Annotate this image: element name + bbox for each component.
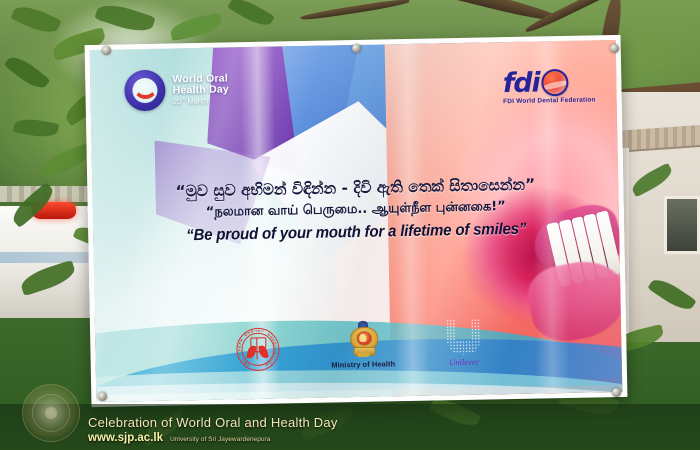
unilever-u-pattern (446, 318, 481, 355)
caption-credits: www.sjp.ac.lk University of Sri Jayeward… (88, 432, 270, 444)
smile-ring-inner (132, 78, 157, 103)
slogan-block: “මුව සුව අභිමන් විඳින්න - දිවි ඇති තෙක් … (113, 174, 598, 247)
slda-ring-char: N (265, 363, 270, 367)
fdi-logo: fdi FDI World Dental Federation (503, 69, 596, 106)
world-oral-health-day-banner: World Oral Health Day 20th March fdi FDI… (85, 35, 628, 407)
caption-title: Celebration of World Oral and Health Day (88, 415, 338, 430)
world-oral-health-day-logo: World Oral Health Day 20th March (124, 69, 229, 112)
fdi-logo-row: fdi (503, 69, 596, 98)
fdi-wordmark: fdi (503, 70, 540, 98)
building-window (664, 196, 700, 254)
smile-ring-icon (124, 70, 166, 112)
smile-curve (133, 86, 157, 99)
fdi-sphere-icon (541, 69, 569, 97)
slda-wing-left (246, 345, 256, 359)
wohd-wordmark: World Oral Health Day 20th March (172, 73, 229, 106)
sponsor-ministry-of-health: Ministry of Health (331, 320, 396, 369)
slda-crest (247, 338, 267, 361)
unilever-u-icon (446, 318, 481, 355)
ministry-of-health-label: Ministry of Health (331, 359, 395, 369)
slda-ring-char: A (238, 349, 241, 353)
banner-grommet (610, 44, 619, 53)
emblem-lion (359, 334, 366, 342)
banner-grommet (98, 392, 107, 401)
photo-scene: World Oral Health Day 20th March fdi FDI… (0, 0, 700, 450)
site-url[interactable]: www.sjp.ac.lk (88, 432, 163, 444)
banner-grommet (102, 46, 111, 55)
sponsor-sri-lanka-dental-association: SRI LANKA DENTAL ASSOCIATION (236, 327, 280, 371)
slda-emblem-icon: SRI LANKA DENTAL ASSOCIATION (236, 327, 280, 371)
caption-bar: Celebration of World Oral and Health Day… (0, 404, 700, 450)
university-name: University of Sri Jayewardenepura (170, 436, 270, 443)
banner-grommet (352, 44, 361, 53)
seal-center (45, 407, 57, 419)
unilever-label: Unilever (449, 357, 479, 368)
sponsor-unilever: Unilever (446, 318, 481, 367)
sponsor-logo-row: SRI LANKA DENTAL ASSOCIATION (95, 298, 622, 374)
slda-stem (256, 339, 258, 360)
slda-wing-right (258, 345, 269, 359)
wohd-date: 20th March (173, 97, 229, 106)
banner-grommet (612, 388, 621, 397)
slogan-tamil: “நலமான வாய் பெருமை.. ஆயுள்நீள புன்னகை!” (114, 197, 598, 223)
university-seal-watermark (22, 384, 80, 442)
wohd-line2: Health Day (173, 84, 229, 96)
emblem-foot (357, 353, 369, 357)
sri-lanka-national-emblem-icon (348, 320, 377, 357)
banner-artwork: World Oral Health Day 20th March fdi FDI… (90, 40, 623, 402)
